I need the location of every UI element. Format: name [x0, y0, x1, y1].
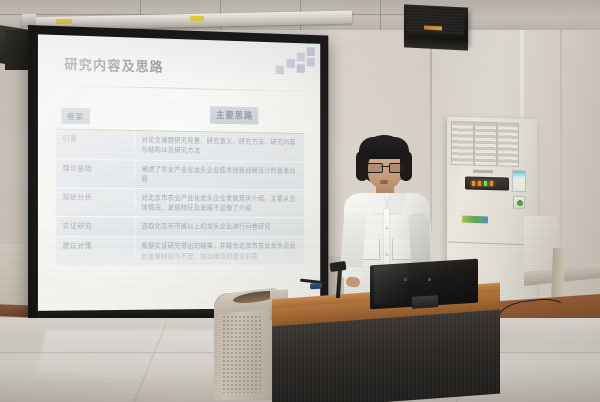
slide-table: 引言 对论文课题研究背景、研究意义、研究方法、研究内容与结构以及研究方法 理论基…	[56, 129, 304, 267]
glasses-bridge	[381, 166, 389, 167]
row-idea-text: 对论文课题研究背景、研究意义、研究方法、研究内容与结构以及研究方法	[135, 131, 304, 161]
status-led-icon	[490, 181, 493, 186]
projection-surface: 研究内容及思路 框架 主要思路 引言 对论文课题研究背景、研究意义、研究方法、研…	[38, 34, 320, 311]
monitor-highlight	[374, 264, 408, 304]
table-header-left: 框架	[61, 108, 89, 124]
lectern-speaker-grille	[222, 315, 262, 393]
table-row: 实证研究 选取北京市市属以上的龙头企业进行问卷研究	[56, 218, 304, 238]
glasses-icon	[367, 163, 403, 171]
monitor-stand-neck	[412, 295, 438, 309]
vent-divider	[496, 122, 498, 166]
classroom-presentation-photo: 研究内容及思路 框架 主要思路 引言 对论文课题研究背景、研究意义、研究方法、研…	[0, 0, 600, 402]
wall-seam-right	[560, 0, 562, 250]
glasses-lens-right	[389, 163, 405, 173]
status-led-icon	[484, 181, 487, 186]
decor-square-icon	[297, 64, 305, 73]
monitor-mount-screw	[404, 278, 407, 281]
eco-dot-icon	[517, 200, 523, 206]
mouth	[380, 180, 388, 184]
table-row: 引言 对论文课题研究背景、研究意义、研究方法、研究内容与结构以及研究方法	[56, 130, 304, 163]
decor-square-icon	[287, 59, 295, 68]
roller-warning-label	[190, 16, 204, 21]
decor-square-icon	[297, 53, 305, 62]
status-led-icon	[472, 181, 475, 186]
table-row: 现状分析 对北京市农业产业化龙头企业发展现状介绍，主要从总体情况、发展特征及发展…	[56, 188, 304, 218]
table-header-right: 主要思路	[210, 106, 258, 124]
roller-warning-label	[56, 19, 72, 24]
row-idea-text: 阐述了农业产业化龙头企业技术创新战略设计的基本内容	[135, 160, 304, 189]
desk-object	[310, 283, 322, 290]
row-frame-label: 引言	[56, 130, 135, 149]
air-conditioner-decal	[462, 216, 488, 224]
vent-divider	[473, 122, 475, 166]
monitor-mount-screw	[428, 278, 431, 281]
decor-square-icon	[307, 58, 315, 67]
decor-square-icon	[307, 47, 315, 56]
row-frame-label: 实证研究	[56, 218, 135, 236]
decor-square-icon	[276, 65, 284, 74]
slide-title: 研究内容及思路	[64, 53, 163, 76]
air-conditioner-brand	[473, 170, 493, 174]
eco-sticker	[513, 196, 525, 209]
projection-screen: 研究内容及思路 框架 主要思路 引言 对论文课题研究背景、研究意义、研究方法、研…	[28, 25, 328, 325]
status-led-icon	[478, 181, 481, 186]
row-frame-label: 理论基础	[56, 159, 135, 178]
glasses-lens-left	[367, 163, 383, 173]
presentation-slide: 研究内容及思路 框架 主要思路 引言 对论文课题研究背景、研究意义、研究方法、研…	[38, 34, 320, 311]
row-frame-label: 现状分析	[56, 188, 135, 206]
table-row: 理论基础 阐述了农业产业化龙头企业技术创新战略设计的基本内容	[56, 159, 304, 191]
row-idea-text: 选取北京市市属以上的龙头企业进行问卷研究	[135, 218, 304, 236]
speaker-brand-badge	[424, 26, 442, 31]
speaker-grille	[406, 6, 464, 35]
air-conditioner-vent-grille	[451, 121, 519, 167]
energy-rating-sticker	[512, 170, 526, 192]
lectern-front-texture	[272, 310, 500, 402]
row-idea-text: 对北京市农业产业化龙头企业发展现状介绍，主要从总体情况、发展特征及发展不足做了介…	[135, 189, 304, 218]
